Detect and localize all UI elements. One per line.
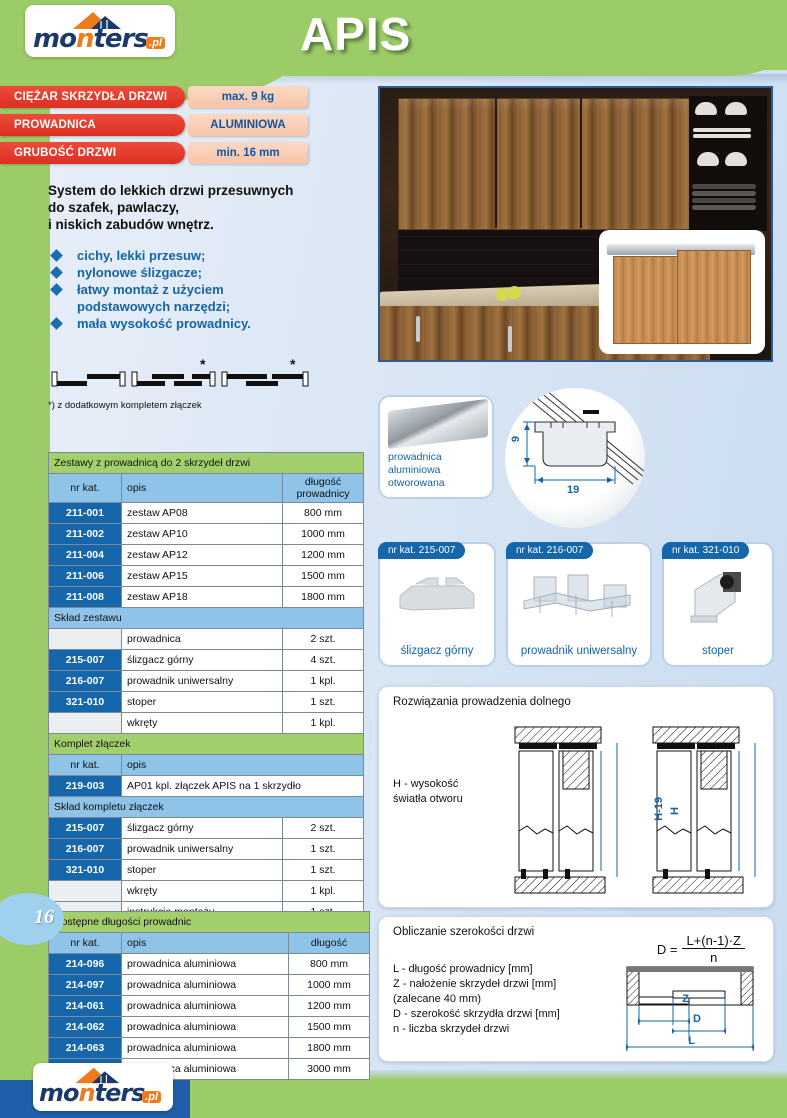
star-marker: * (200, 356, 205, 372)
col-header-length: długość (289, 933, 370, 954)
feature-list: cichy, lekki przesuw; nylonowe ślizgacze… (48, 247, 368, 332)
table-row: 216-007prowadnik uniwersalny1 szt. (49, 839, 364, 860)
table-row: Skład kompletu złączek (49, 797, 364, 818)
component-cat-tag: nr kat. 216-007 (506, 542, 593, 559)
spec-label: GRUBOŚĆ DRZWI (0, 142, 185, 164)
bottom-guide-panel: Rozwiązania prowadzenia dolnego H - wyso… (378, 686, 774, 908)
width-calc-panel: Obliczanie szerokości drzwi L - długość … (378, 916, 774, 1062)
dim-z-label: Z (682, 993, 689, 1005)
door-arrangement-diagram: * * (50, 368, 350, 396)
catalog-page: APIS monters .pl CIĘŻAR SKRZYDŁA DRZWI m… (0, 0, 787, 1118)
table-row: Skład zestawu (49, 608, 364, 629)
diamond-bullet-icon (50, 266, 63, 279)
spec-row: PROWADNICA ALUMINIOWA (0, 114, 320, 136)
rail-label: prowadnica aluminiowa otworowana (388, 451, 445, 490)
spec-value: min. 16 mm (188, 142, 308, 164)
table-row: Zestawy z prowadnicą do 2 skrzydeł drzwi (49, 453, 364, 474)
table-row: Dostępne długości prowadnic (49, 912, 370, 933)
intro-line: do szafek, pawlaczy, (48, 199, 368, 216)
table-row: prowadnica2 szt. (49, 629, 364, 650)
table-row: 321-010stoper1 szt. (49, 860, 364, 881)
brand-logo[interactable]: monters .pl (25, 5, 175, 57)
table-row: 215-007ślizgacz górny4 szt. (49, 650, 364, 671)
intro-line: System do lekkich drzwi przesuwnych (48, 182, 368, 199)
spec-row: CIĘŻAR SKRZYDŁA DRZWI max. 9 kg (0, 86, 320, 108)
table-row: nr kat. opis (49, 755, 364, 776)
table-row: wkręty1 kpl. (49, 713, 364, 734)
component-cat-tag: nr kat. 321-010 (662, 542, 749, 559)
dim-l-label: L (688, 1035, 695, 1047)
table-row: 211-002zestaw AP101000 mm (49, 524, 364, 545)
table-row: 214-061prowadnica aluminiowa1200 mm (49, 996, 370, 1017)
spec-badges: CIĘŻAR SKRZYDŁA DRZWI max. 9 kg PROWADNI… (0, 86, 320, 170)
table-row: 211-004zestaw AP121200 mm (49, 545, 364, 566)
table-row: 321-010stoper1 szt. (49, 692, 364, 713)
feature-item: mała wysokość prowadnicy. (48, 315, 368, 332)
rail-photo (388, 399, 488, 449)
width-calc-title: Obliczanie szerokości drzwi (393, 926, 534, 938)
col-header-cat: nr kat. (49, 474, 122, 503)
width-calc-legend: L - długość prowadnicy [mm] Z - nałożeni… (393, 962, 560, 1037)
star-marker: * (290, 356, 295, 372)
table-sets: Zestawy z prowadnicą do 2 skrzydeł drzwi… (48, 452, 364, 755)
col-header-desc: opis (122, 933, 289, 954)
bottom-guide-legend: H - wysokość światła otworu (393, 777, 463, 807)
table-rails: Dostępne długości prowadnic nr kat. opis… (48, 911, 370, 1080)
table-row: 214-062prowadnica aluminiowa1500 mm (49, 1017, 370, 1038)
feature-item: łatwy montaż z użyciem (48, 281, 368, 298)
bottom-guide-title: Rozwiązania prowadzenia dolnego (393, 696, 571, 708)
table-row: nr kat. opis długość prowadnicy (49, 474, 364, 503)
dim-h-label-left: H (669, 807, 681, 815)
table-row: 211-008zestaw AP181800 mm (49, 587, 364, 608)
formula-denominator: n (682, 949, 745, 965)
intro-line: i niskich zabudów wnętrz. (48, 216, 368, 233)
table-row: 214-097prowadnica aluminiowa1000 mm (49, 975, 370, 996)
component-card-guide[interactable]: nr kat. 216-007 prowadnik uniwersalny (506, 542, 652, 667)
component-card-slider[interactable]: nr kat. 215-007 ślizgacz górny (378, 542, 496, 667)
spec-value: max. 9 kg (188, 86, 308, 108)
table-row: nr kat. opis długość (49, 933, 370, 954)
diamond-bullet-icon (50, 283, 63, 296)
table-title: Komplet złączek (49, 734, 364, 755)
feature-label: łatwy montaż z użyciem (77, 281, 224, 298)
brand-wordmark: monters (33, 24, 148, 54)
product-photo (378, 86, 773, 362)
table-subheader: Skład kompletu złączek (49, 797, 364, 818)
page-title: APIS (300, 7, 411, 61)
intro-block: System do lekkich drzwi przesuwnych do s… (48, 182, 368, 332)
formula-lhs: D = (657, 942, 678, 957)
page-number: 16 (34, 906, 54, 929)
rail-section-diagram: 9 19 (505, 388, 645, 528)
footer-brand-logo[interactable]: monters .pl (33, 1063, 173, 1111)
table-row: 215-007ślizgacz górny2 szt. (49, 818, 364, 839)
component-card-stopper[interactable]: nr kat. 321-010 stoper (662, 542, 774, 667)
dim-d-label: D (693, 1013, 701, 1025)
universal-guide-icon (520, 571, 638, 623)
dim-height-label: 9 (510, 436, 522, 442)
feature-label: nylonowe ślizgacze; (77, 264, 202, 281)
component-name: stoper (664, 645, 772, 657)
feature-item: nylonowe ślizgacze; (48, 264, 368, 281)
spec-label: PROWADNICA (0, 114, 185, 136)
table-row: 219-003AP01 kpl. złączek APIS na 1 skrzy… (49, 776, 364, 797)
component-name: prowadnik uniwersalny (508, 645, 650, 657)
table-connectors: Komplet złączek nr kat. opis 219-003AP01… (48, 733, 364, 923)
component-cat-tag: nr kat. 215-007 (378, 542, 465, 559)
table-row: Komplet złączek (49, 734, 364, 755)
table-row: 214-063prowadnica aluminiowa1800 mm (49, 1038, 370, 1059)
table-title: Zestawy z prowadnicą do 2 skrzydeł drzwi (49, 453, 364, 474)
formula-numerator: L+(n-1)·Z (682, 933, 745, 949)
feature-continuation: podstawowych narzędzi; (48, 298, 368, 315)
table-row: 211-006zestaw AP151500 mm (49, 566, 364, 587)
dim-h19-label-left: H-19 (653, 797, 665, 821)
feature-label: cichy, lekki przesuw; (77, 247, 205, 264)
component-name: ślizgacz górny (380, 645, 494, 657)
feature-item: cichy, lekki przesuw; (48, 247, 368, 264)
table-title: Dostępne długości prowadnic (49, 912, 370, 933)
diamond-bullet-icon (50, 317, 63, 330)
table-subheader: Skład zestawu (49, 608, 364, 629)
table-row: 211-001zestaw AP08800 mm (49, 503, 364, 524)
col-header-desc: opis (122, 474, 283, 503)
diamond-bullet-icon (50, 249, 63, 262)
table-row: 216-007prowadnik uniwersalny1 kpl. (49, 671, 364, 692)
intro-headline: System do lekkich drzwi przesuwnych do s… (48, 182, 368, 233)
diagram-footnote: *) z dodatkowym kompletem złączek (48, 400, 202, 411)
rail-cross-section-icon (505, 388, 645, 528)
dim-width-label: 19 (567, 484, 579, 496)
table-row: 214-096prowadnica aluminiowa800 mm (49, 954, 370, 975)
width-formula: D = L+(n-1)·Z n (657, 933, 745, 965)
bottom-guide-drawing (511, 725, 761, 900)
brand-tld: .pl (146, 37, 165, 49)
top-slider-icon (394, 574, 480, 620)
col-header-length: długość prowadnicy (283, 474, 364, 503)
footer-green-bar (190, 1080, 787, 1118)
col-header-cat: nr kat. (49, 933, 122, 954)
product-inset-photo (599, 230, 765, 354)
brand-tld: .pl (142, 1091, 161, 1103)
stopper-icon (683, 568, 753, 626)
col-header-desc: opis (122, 755, 364, 776)
feature-label: mała wysokość prowadnicy. (77, 315, 251, 332)
brand-wordmark: monters (39, 1079, 144, 1107)
col-header-cat: nr kat. (49, 755, 122, 776)
spec-label: CIĘŻAR SKRZYDŁA DRZWI (0, 86, 185, 108)
spec-row: GRUBOŚĆ DRZWI min. 16 mm (0, 142, 320, 164)
rail-profile-card: prowadnica aluminiowa otworowana (378, 395, 494, 499)
spec-value: ALUMINIOWA (188, 114, 308, 136)
table-row: wkręty1 kpl. (49, 881, 364, 902)
col-header-length-l1: długość (305, 476, 341, 488)
col-header-length-l2: prowadnicy (296, 488, 349, 500)
